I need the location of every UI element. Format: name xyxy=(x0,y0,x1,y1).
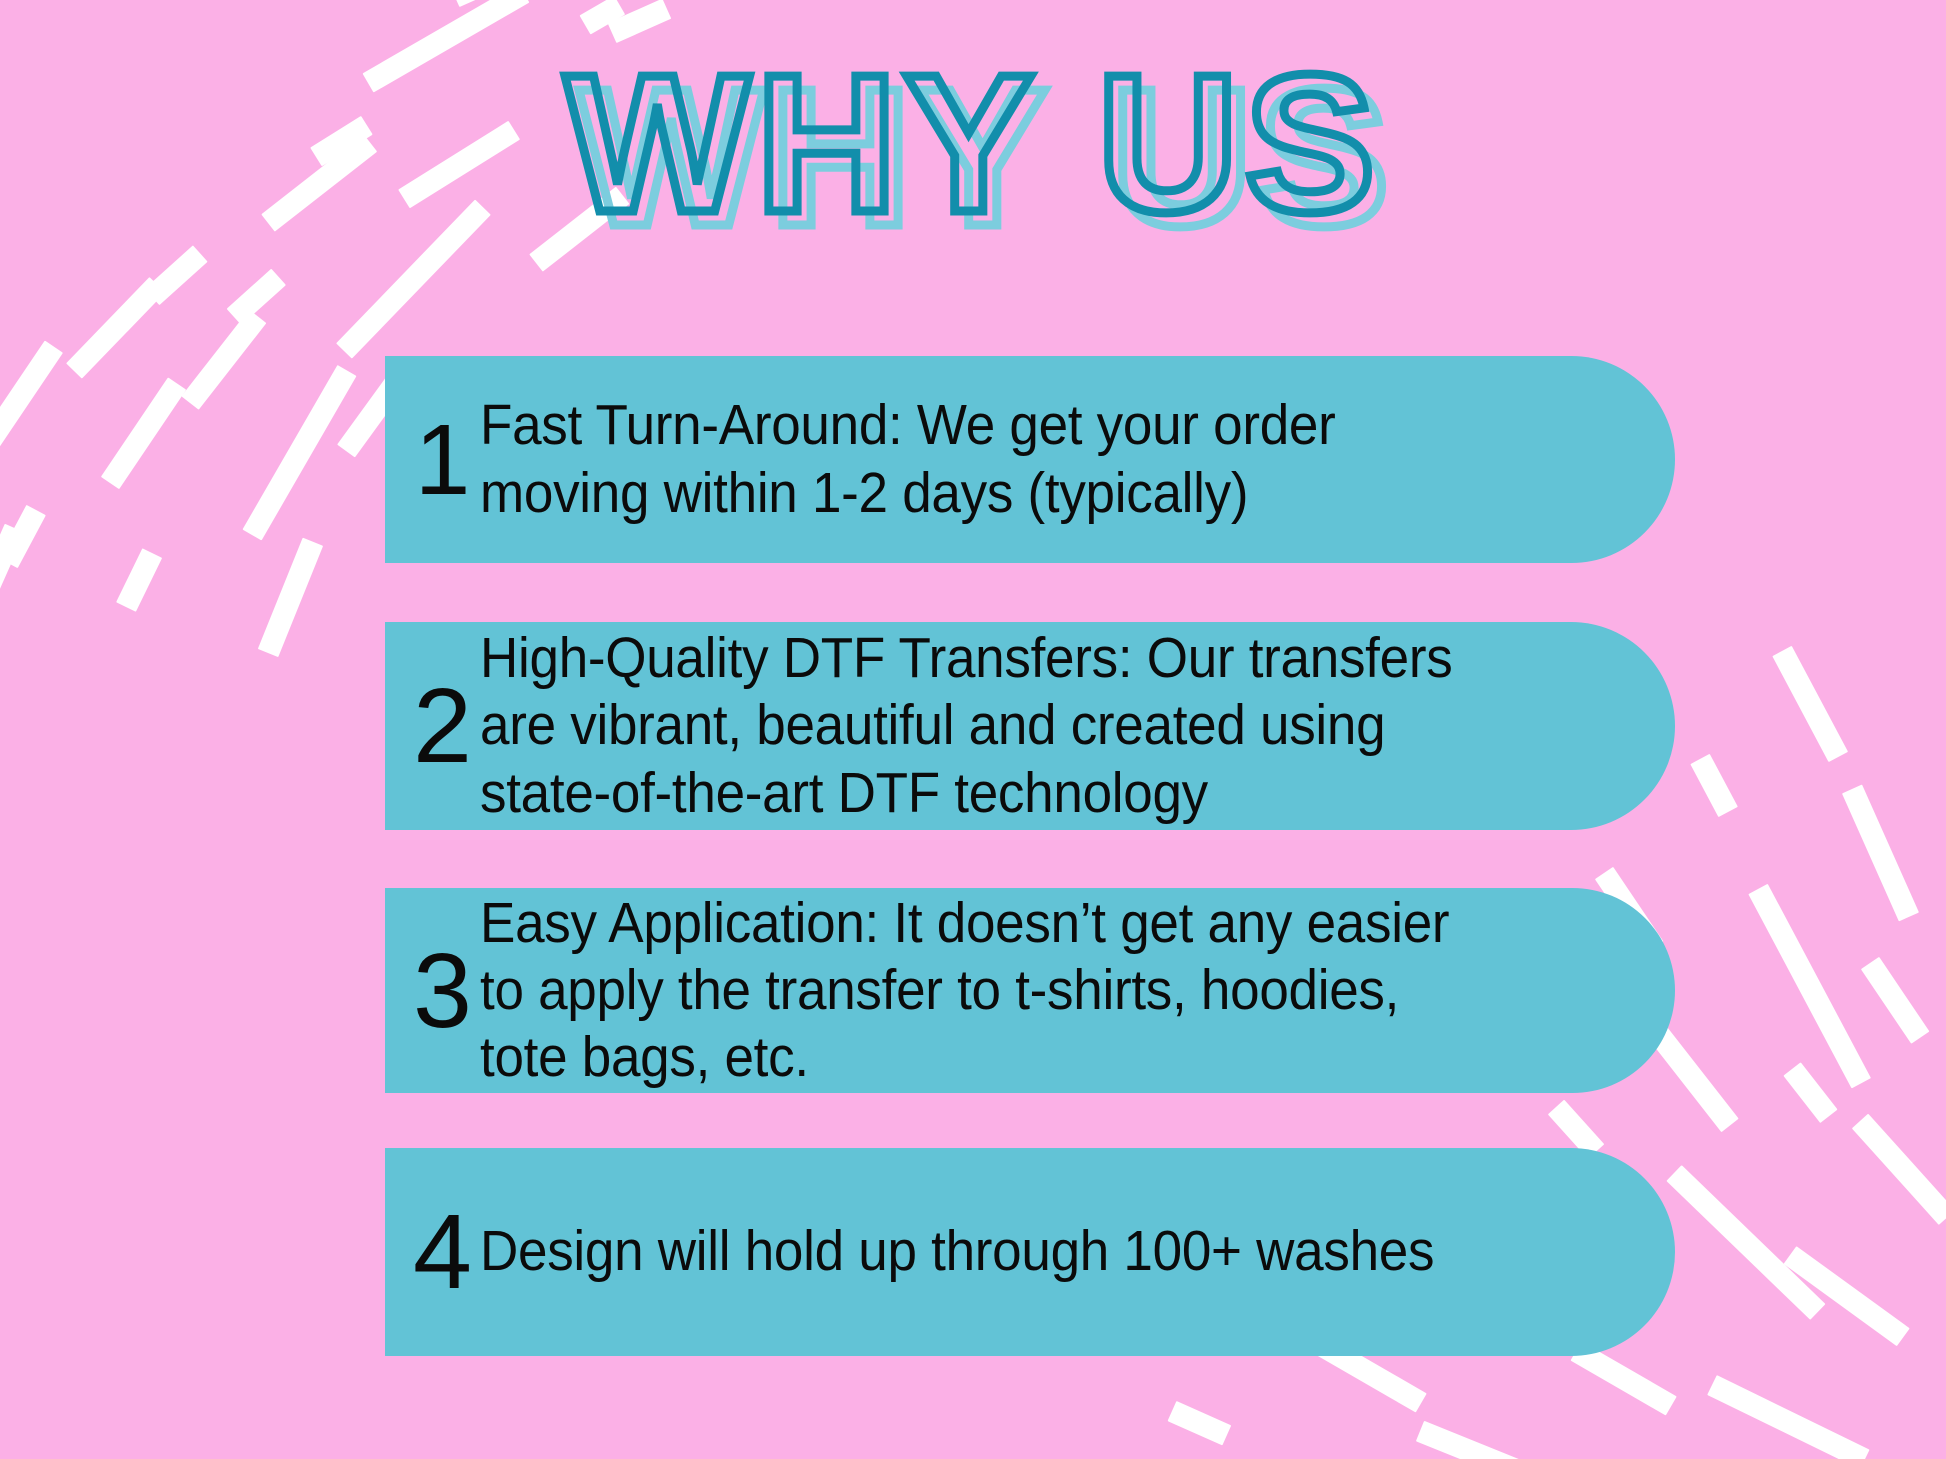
benefit-card-2: 2 High-Quality DTF Transfers: Our transf… xyxy=(385,622,1675,830)
benefit-card-4-number: 4 xyxy=(385,1199,480,1305)
benefit-card-1: 1 Fast Turn-Around: We get your order mo… xyxy=(385,356,1675,563)
benefit-card-3-number: 3 xyxy=(385,938,480,1044)
benefit-card-1-text: Fast Turn-Around: We get your order movi… xyxy=(480,392,1591,527)
benefit-card-3: 3 Easy Application: It doesn’t get any e… xyxy=(385,888,1675,1093)
benefit-card-1-number: 1 xyxy=(385,410,480,510)
benefit-card-3-text: Easy Application: It doesn’t get any eas… xyxy=(480,890,1591,1092)
benefit-card-4: 4 Design will hold up through 100+ washe… xyxy=(385,1148,1675,1356)
page-title-text: WHY US xyxy=(565,34,1381,253)
page-title: WHY US WHY US xyxy=(0,46,1946,242)
benefit-card-2-text: High-Quality DTF Transfers: Our transfer… xyxy=(480,625,1591,827)
benefit-card-2-number: 2 xyxy=(385,673,480,779)
benefit-card-4-text: Design will hold up through 100+ washes xyxy=(480,1218,1591,1285)
